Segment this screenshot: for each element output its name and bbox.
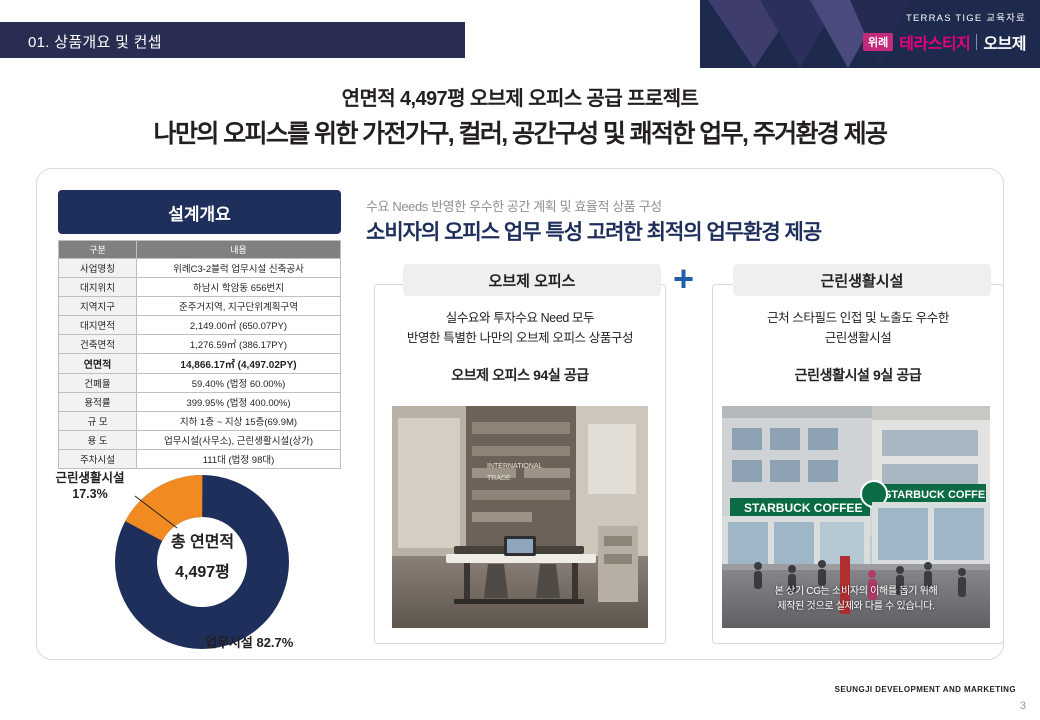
spec-row-value: 2,149.00㎡ (650.07PY)	[137, 316, 341, 335]
spec-row-value: 지하 1층 ~ 지상 15층(69.9M)	[137, 412, 341, 431]
card-retail-desc-line1: 근처 스타필드 인접 및 노출도 우수한	[767, 311, 949, 325]
svg-text:INTERNATIONAL: INTERNATIONAL	[487, 463, 543, 470]
logo-wirye: 위례	[863, 33, 893, 51]
spec-table-row: 지역지구준주거지역, 지구단위계획구역	[59, 297, 341, 316]
spec-row-key: 대지위치	[59, 278, 137, 297]
spec-table-row: 연면적14,866.17㎡ (4,497.02PY)	[59, 354, 341, 374]
header-logo-row: 위례 테라스티지 오브제	[863, 30, 1026, 54]
card-office-highlight: 오브제 오피스 94실 공급	[390, 365, 650, 385]
logo-obje: 오브제	[983, 30, 1026, 54]
chart-label-bottom: 업무시설 82.7%	[205, 632, 345, 651]
spec-table-row: 건축면적1,276.59㎡ (386.17PY)	[59, 335, 341, 354]
plus-icon: +	[673, 262, 694, 296]
card-retail-highlight: 근린생활시설 9실 공급	[728, 365, 988, 385]
donut-chart: 총 연면적 4,497평	[95, 470, 310, 655]
right-subtitle: 수요 Needs 반영한 우수한 공간 계획 및 효율적 상품 구성	[366, 196, 662, 215]
spec-row-key: 사업명칭	[59, 259, 137, 278]
spec-table-row: 대지위치하남시 학암동 656번지	[59, 278, 341, 297]
spec-table-row: 용적률399.95% (법정 400.00%)	[59, 393, 341, 412]
spec-row-key: 건폐율	[59, 374, 137, 393]
page-number: 3	[1020, 700, 1026, 712]
spec-row-value: 준주거지역, 지구단위계획구역	[137, 297, 341, 316]
header-brand-top-text: TERRAS TIGE 교육자료	[906, 10, 1026, 24]
card-office-caption: 오브제 오피스	[403, 264, 661, 296]
spec-table-row: 건폐율59.40% (법정 60.00%)	[59, 374, 341, 393]
header-section-label: 01. 상품개요 및 컨셉	[28, 31, 162, 52]
spec-row-value: 59.40% (법정 60.00%)	[137, 374, 341, 393]
spec-row-key: 연면적	[59, 354, 137, 374]
spec-table-row: 주차시설111대 (법정 98대)	[59, 450, 341, 469]
spec-table-row: 용 도업무시설(사무소), 근린생활시설(상가)	[59, 431, 341, 450]
spec-table-row: 규 모지하 1층 ~ 지상 15층(69.9M)	[59, 412, 341, 431]
office-interior-photo-art: INTERNATIONAL TRADE	[392, 406, 648, 628]
card-retail-description: 근처 스타필드 인접 및 노출도 우수한 근린생활시설	[728, 308, 988, 348]
spec-row-value: 111대 (법정 98대)	[137, 450, 341, 469]
retail-streetscape-cg: STARBUCK COFFEE STARBUCK COFFE 본 상기 C	[722, 406, 990, 628]
svg-text:TRADE: TRADE	[487, 475, 511, 482]
logo-terras-tige: 테라스티지	[899, 30, 970, 54]
chart-center-value: 4,497평	[95, 558, 310, 582]
spec-row-value: 399.95% (법정 400.00%)	[137, 393, 341, 412]
right-title: 소비자의 오피스 업무 특성 고려한 최적의 업무환경 제공	[366, 216, 821, 246]
chart-label-bottom-name: 업무시설	[205, 635, 253, 650]
office-interior-photo: INTERNATIONAL TRADE	[392, 406, 648, 628]
spec-row-key: 용 도	[59, 431, 137, 450]
page-subtitle: 연면적 4,497평 오브제 오피스 공급 프로젝트	[0, 82, 1040, 111]
card-retail-desc-line2: 근린생활시설	[825, 331, 892, 345]
retail-photo-disclaimer: 본 상기 CG는 소비자의 이해를 돕기 위해제작된 것으로 실제와 다를 수 …	[722, 584, 990, 614]
spec-table: 구분내용사업명칭위례C3-2블럭 업무시설 신축공사대지위치하남시 학암동 65…	[58, 240, 341, 469]
spec-row-value: 하남시 학암동 656번지	[137, 278, 341, 297]
spec-table-header-cell: 내용	[137, 241, 341, 259]
spec-row-value: 위례C3-2블럭 업무시설 신축공사	[137, 259, 341, 278]
spec-table-header-row: 구분내용	[59, 241, 341, 259]
spec-row-key: 용적률	[59, 393, 137, 412]
spec-row-key: 건축면적	[59, 335, 137, 354]
spec-row-key: 주차시설	[59, 450, 137, 469]
spec-table-header-cell: 구분	[59, 241, 137, 259]
logo-divider	[976, 34, 977, 50]
spec-row-key: 규 모	[59, 412, 137, 431]
spec-row-key: 지역지구	[59, 297, 137, 316]
chart-label-bottom-value: 82.7%	[256, 635, 293, 650]
footer-company: SEUNGJI DEVELOPMENT AND MARKETING	[835, 685, 1016, 694]
chart-center-title: 총 연면적	[95, 528, 310, 552]
card-office-desc-line1: 실수요와 투자수요 Need 모두	[446, 311, 595, 325]
spec-row-key: 대지면적	[59, 316, 137, 335]
spec-row-value: 업무시설(사무소), 근린생활시설(상가)	[137, 431, 341, 450]
card-office-description: 실수요와 투자수요 Need 모두 반영한 특별한 나만의 오브제 오피스 상품…	[390, 308, 650, 348]
spec-table-heading: 설계개요	[58, 190, 341, 234]
svg-text:STARBUCK COFFEE: STARBUCK COFFEE	[744, 501, 862, 515]
svg-text:STARBUCK COFFE: STARBUCK COFFE	[884, 489, 985, 501]
spec-table-row: 사업명칭위례C3-2블럭 업무시설 신축공사	[59, 259, 341, 278]
page-title: 나만의 오피스를 위한 가전가구, 컬러, 공간구성 및 쾌적한 업무, 주거환…	[0, 114, 1040, 150]
spec-table-row: 대지면적2,149.00㎡ (650.07PY)	[59, 316, 341, 335]
spec-row-value: 14,866.17㎡ (4,497.02PY)	[137, 354, 341, 374]
spec-row-value: 1,276.59㎡ (386.17PY)	[137, 335, 341, 354]
card-office-desc-line2: 반영한 특별한 나만의 오브제 오피스 상품구성	[407, 331, 633, 345]
card-retail-caption: 근린생활시설	[733, 264, 991, 296]
